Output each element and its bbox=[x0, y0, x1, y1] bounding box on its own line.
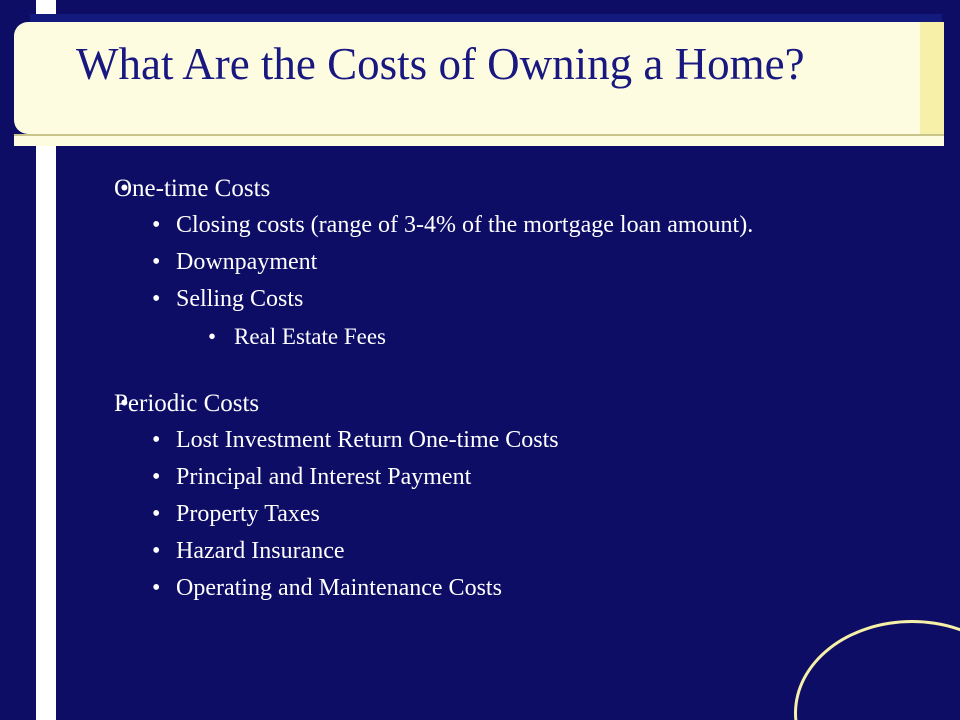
list-item: • Downpayment bbox=[56, 244, 936, 281]
slide-body: • One-time Costs • Closing costs (range … bbox=[56, 170, 936, 700]
list-item-label: Selling Costs bbox=[176, 286, 303, 312]
bullet-icon: • bbox=[152, 244, 160, 281]
bullet-icon: • bbox=[208, 318, 216, 355]
list-item: • Hazard Insurance bbox=[56, 533, 936, 570]
bullet-icon: • bbox=[152, 207, 160, 244]
list-item: • Selling Costs bbox=[56, 281, 936, 318]
sublist-selling-costs: • Real Estate Fees bbox=[56, 318, 936, 355]
bullet-icon: • bbox=[152, 281, 160, 318]
list-item-label: Hazard Insurance bbox=[176, 538, 345, 564]
list-item: • Closing costs (range of 3-4% of the mo… bbox=[56, 207, 936, 244]
bullet-icon: • bbox=[120, 170, 129, 207]
list-item-label: Principal and Interest Payment bbox=[176, 464, 471, 490]
sublist-periodic-costs: • Lost Investment Return One-time Costs … bbox=[56, 422, 936, 607]
page-title: What Are the Costs of Owning a Home? bbox=[76, 38, 956, 91]
bullet-icon: • bbox=[120, 385, 129, 422]
section-heading-label: One-time Costs bbox=[114, 175, 270, 202]
bullet-icon: • bbox=[152, 533, 160, 570]
section-heading-one-time-costs: • One-time Costs bbox=[56, 170, 936, 207]
bullet-icon: • bbox=[152, 496, 160, 533]
content-list: • One-time Costs • Closing costs (range … bbox=[56, 170, 936, 607]
sublist-one-time-costs: • Closing costs (range of 3-4% of the mo… bbox=[56, 207, 936, 355]
bullet-icon: • bbox=[152, 459, 160, 496]
list-item: • Operating and Maintenance Costs bbox=[56, 570, 936, 607]
title-underline bbox=[14, 134, 944, 146]
list-item: • Lost Investment Return One-time Costs bbox=[56, 422, 936, 459]
bullet-icon: • bbox=[152, 422, 160, 459]
list-item-label: Closing costs (range of 3-4% of the mort… bbox=[176, 212, 753, 238]
list-item: • Property Taxes bbox=[56, 496, 936, 533]
slide: What Are the Costs of Owning a Home? • O… bbox=[0, 0, 960, 720]
list-item-label: Property Taxes bbox=[176, 501, 320, 527]
section-heading-label: Periodic Costs bbox=[114, 390, 259, 417]
list-item-label: Real Estate Fees bbox=[234, 324, 386, 349]
bullet-icon: • bbox=[152, 570, 160, 607]
section-spacer bbox=[56, 355, 936, 385]
list-item-label: Lost Investment Return One-time Costs bbox=[176, 427, 559, 453]
list-item-label: Downpayment bbox=[176, 249, 317, 275]
list-item: • Principal and Interest Payment bbox=[56, 459, 936, 496]
title-box: What Are the Costs of Owning a Home? bbox=[14, 22, 920, 134]
section-heading-periodic-costs: • Periodic Costs bbox=[56, 385, 936, 422]
list-item: • Real Estate Fees bbox=[56, 318, 936, 355]
list-item-label: Operating and Maintenance Costs bbox=[176, 575, 502, 601]
